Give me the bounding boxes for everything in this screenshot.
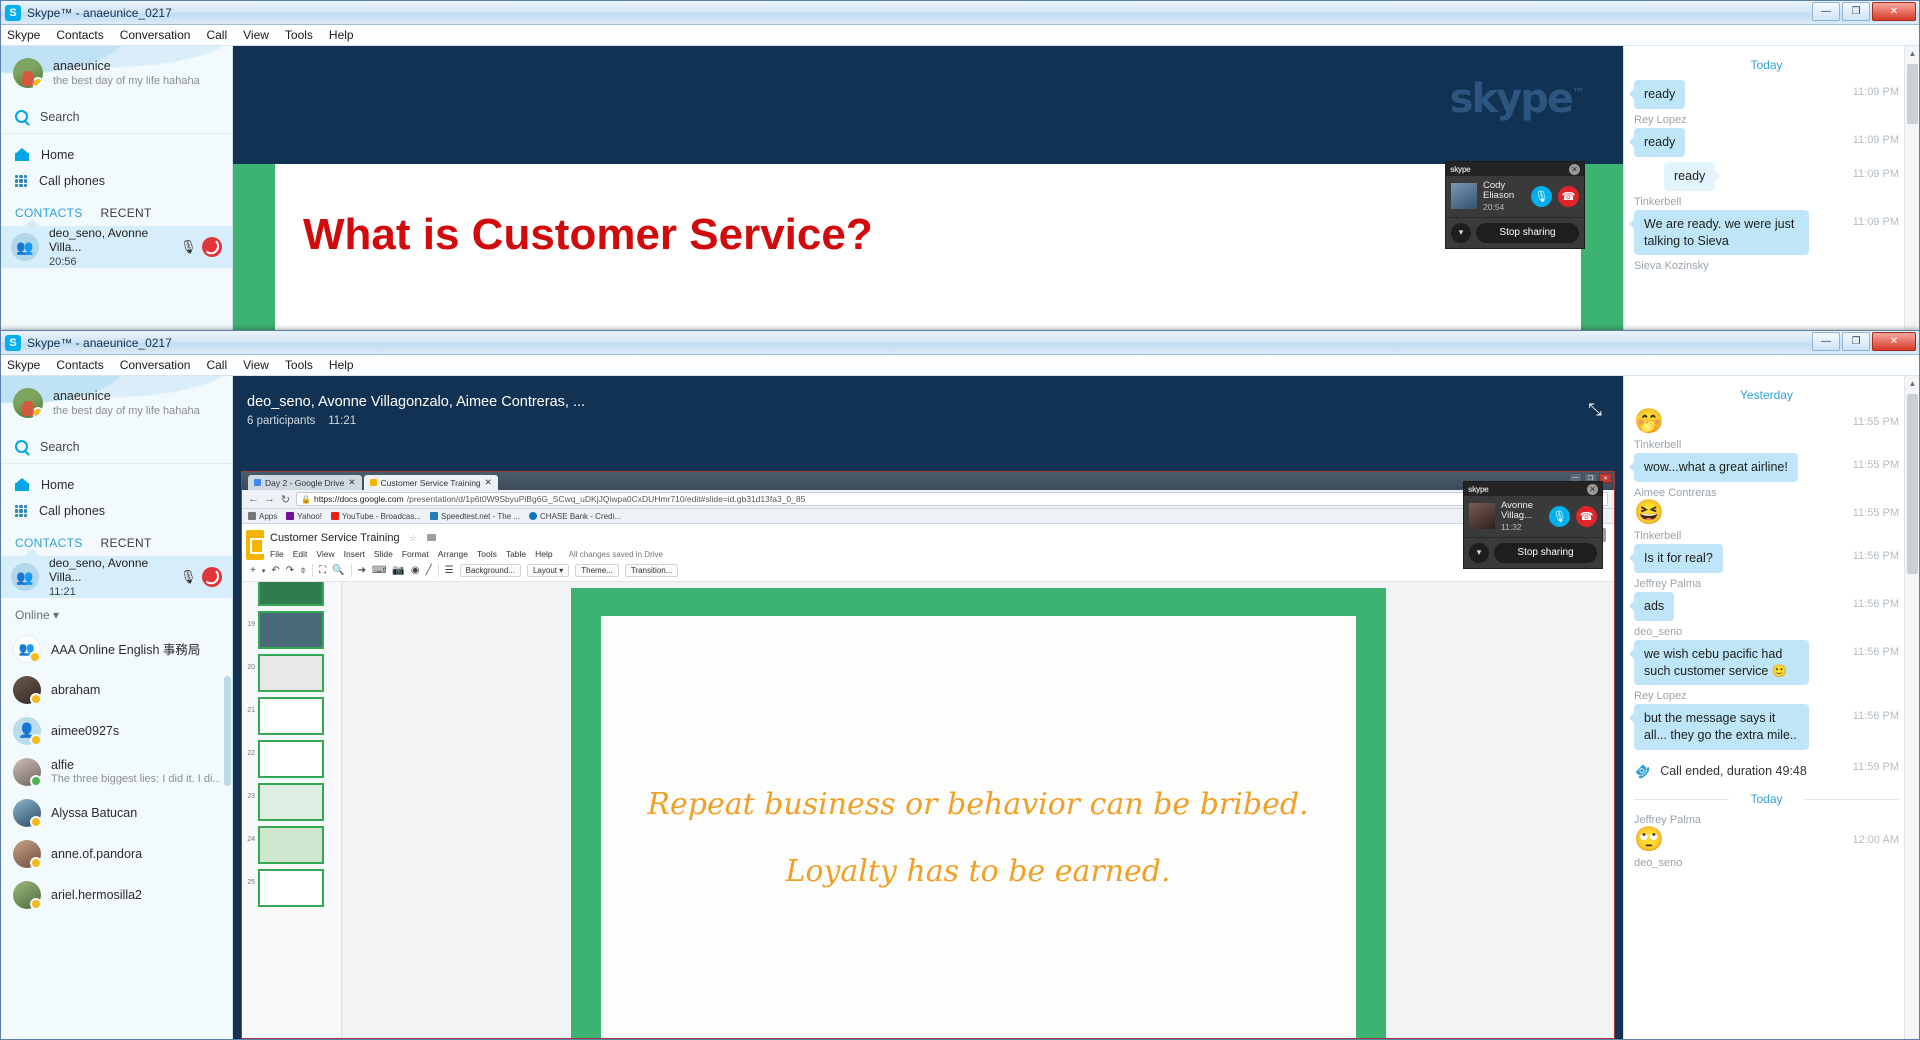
presence-badge-online	[30, 775, 42, 787]
stop-sharing-button[interactable]: Stop sharing	[1476, 223, 1579, 243]
call-widget-1[interactable]: skype ✕ Cody Eliason 20:54 🎙 ☎ ▾ Stop sh…	[1445, 161, 1585, 249]
slide-content: Repeat business or behavior can be bribe…	[601, 616, 1356, 1039]
message-time: 11:56 PM	[1845, 544, 1899, 562]
browser-tab-slides[interactable]: Customer Service Training ✕	[364, 475, 498, 490]
contact-name: AAA Online English 事務局	[51, 639, 200, 658]
bookmark-apps[interactable]: Apps	[248, 512, 277, 521]
yahoo-icon	[286, 512, 294, 520]
avatar	[13, 840, 41, 868]
online-filter-dropdown[interactable]: Online ▾	[1, 598, 232, 628]
menu-help[interactable]: Help	[329, 358, 354, 372]
message-emoji: 😆	[1634, 501, 1664, 525]
bookmarks-bar[interactable]: Apps Yahoo! YouTube - Broadcas... Speedt…	[242, 509, 1614, 524]
scrollbar-thumb[interactable]	[1907, 64, 1918, 124]
chat-scrollbar[interactable]: ▲	[1904, 46, 1919, 339]
window1-body: anaeunice the best day of my life hahaha…	[1, 46, 1919, 339]
menu-conversation[interactable]: Conversation	[120, 358, 191, 372]
end-call-icon[interactable]: ☎	[1558, 186, 1579, 207]
window1-window-buttons[interactable]: — ❐ ✕	[1812, 2, 1916, 21]
slides-menu-format[interactable]: Format	[402, 549, 429, 559]
message-time: 11:09 PM	[1845, 80, 1899, 98]
message-time: 11:09 PM	[1845, 162, 1899, 180]
undo-icon[interactable]: ↶	[271, 565, 279, 576]
back-icon[interactable]: ←	[248, 493, 259, 505]
plus-icon[interactable]: +	[250, 565, 256, 576]
presence-badge-away	[29, 651, 41, 663]
chevron-down-icon[interactable]: ▾	[262, 567, 266, 575]
filmstrip-item[interactable]	[242, 582, 341, 606]
sidebar-item-call-phones[interactable]: Call phones	[1, 498, 232, 524]
contact-list-item[interactable]: alfie The three biggest lies: I did it. …	[1, 751, 232, 792]
layout-button[interactable]: Layout ▾	[527, 564, 569, 577]
message-sender: Jeffrey Palma	[1634, 814, 1899, 826]
window1-chat-panel[interactable]: Today ready 11:09 PM Rey Lopez ready 11:…	[1623, 46, 1919, 339]
call-event-text: Call ended, duration 49:48	[1660, 764, 1807, 778]
slides-menu-table[interactable]: Table	[506, 549, 526, 559]
contact-name: abraham	[51, 683, 100, 697]
call-widget-actions[interactable]: ▾ Stop sharing	[1446, 218, 1584, 248]
profile-header[interactable]: anaeunice the best day of my life hahaha	[1, 46, 232, 100]
presence-badge-away	[30, 898, 42, 910]
menu-skype[interactable]: Skype	[7, 28, 40, 42]
slide-filmstrip[interactable]: 19 20 21 22	[242, 582, 342, 1039]
slides-logo-icon	[246, 530, 264, 560]
bookmark-chase[interactable]: CHASE Bank - Credi...	[529, 512, 621, 521]
profile-mood: the best day of my life hahaha	[53, 75, 200, 87]
end-call-icon[interactable]	[202, 567, 222, 587]
caller-avatar	[1469, 503, 1495, 529]
google-slides-app[interactable]: Customer Service Training ☆ File Edit Vi…	[242, 524, 1614, 1039]
scroll-up-icon[interactable]: ▲	[1905, 376, 1919, 391]
message-bubble: ready	[1664, 162, 1715, 191]
contact-list-item[interactable]: anne.of.pandora	[1, 833, 232, 874]
filmstrip-item[interactable]: 22	[242, 740, 341, 778]
message-sender: Tinkerbell	[1634, 530, 1899, 542]
paint-format-icon[interactable]: ⌽	[300, 565, 306, 576]
window2-menubar[interactable]: Skype Contacts Conversation Call View To…	[1, 355, 1919, 376]
toolbar-separator	[438, 564, 439, 577]
menu-skype[interactable]: Skype	[7, 358, 40, 372]
browser-tab-slides-label: Customer Service Training	[381, 478, 481, 488]
sidebar-scrollbar-thumb[interactable]	[224, 676, 231, 786]
theme-button[interactable]: Theme...	[575, 564, 619, 577]
close-icon[interactable]: ✕	[348, 477, 355, 488]
sidebar-item-call-phones[interactable]: Call phones	[1, 168, 232, 194]
slides-menu-arrange[interactable]: Arrange	[438, 549, 468, 559]
skype-window-2[interactable]: S Skype™ - anaeunice_0217 — ❐ ✕ Skype Co…	[0, 330, 1920, 1040]
sidebar-item-call-phones-label: Call phones	[39, 174, 105, 188]
slide-number: 24	[244, 826, 258, 843]
dialpad-icon	[15, 505, 27, 517]
conversation-list-item[interactable]: deo_seno, Avonne Villa... 20:56 🎙	[1, 226, 232, 268]
dialpad-icon	[15, 175, 27, 187]
maximize-button[interactable]: ❐	[1842, 332, 1870, 351]
contact-list-item[interactable]: ariel.hermosilla2	[1, 874, 232, 915]
menu-conversation[interactable]: Conversation	[120, 28, 191, 42]
slide-thumbnail[interactable]	[258, 697, 324, 735]
filmstrip-item[interactable]: 19	[242, 611, 341, 649]
chat-message: We are ready. we were just talking to Si…	[1634, 210, 1899, 256]
filmstrip-item[interactable]: 25	[242, 869, 341, 907]
textbox-icon[interactable]: ⌨	[372, 565, 386, 576]
slide-title-text: What is Customer Service?	[303, 210, 873, 260]
window2-title: Skype™ - anaeunice_0217	[27, 336, 172, 350]
group-avatar	[11, 233, 39, 261]
message-time: 11:09 PM	[1845, 210, 1899, 228]
participants-count: 6 participants	[247, 415, 315, 427]
message-sender: Tinkerbell	[1634, 439, 1899, 451]
slide-left-band	[233, 164, 275, 339]
window1-menubar[interactable]: Skype Contacts Conversation Call View To…	[1, 25, 1919, 46]
sidebar-nav[interactable]: Home Call phones	[1, 134, 232, 194]
message-sender: Rey Lopez	[1634, 690, 1899, 702]
maximize-button[interactable]: ❐	[1842, 2, 1870, 21]
contact-mood: The three biggest lies: I did it. I di..…	[51, 773, 220, 785]
profile-name: anaeunice	[53, 389, 200, 403]
close-button[interactable]: ✕	[1872, 332, 1916, 351]
browser-tabbar[interactable]: Day 2 - Google Drive ✕ Customer Service …	[242, 472, 1614, 490]
sidebar-item-home[interactable]: Home	[1, 472, 232, 498]
presence-badge-away	[30, 734, 42, 746]
window2-sidebar[interactable]: anaeunice the best day of my life hahaha…	[1, 376, 233, 1039]
share-time: 11:21	[328, 415, 356, 427]
message-sender: Rey Lopez	[1634, 114, 1899, 126]
slide-thumbnail[interactable]	[258, 654, 324, 692]
message-time: 11:55 PM	[1845, 410, 1899, 428]
zoom-icon[interactable]: 🔍	[332, 565, 344, 576]
contact-list-item[interactable]: Alyssa Batucan	[1, 792, 232, 833]
close-icon[interactable]: ✕	[485, 477, 492, 488]
slides-toolbar[interactable]: + ▾ ↶ ↷ ⌽ ⛶ 🔍 ➔ ⌨ 📷 ◉ ╱	[242, 560, 1614, 582]
chat-message: 🤭 11:55 PM	[1634, 410, 1899, 434]
menu-call[interactable]: Call	[206, 28, 227, 42]
contact-name: Alyssa Batucan	[51, 806, 137, 820]
caller-name: Cody Eliason	[1483, 181, 1525, 202]
message-sender: Jeffrey Palma	[1634, 578, 1899, 590]
group-avatar	[11, 563, 39, 591]
filmstrip-item[interactable]: 24	[242, 826, 341, 864]
slides-menu-file[interactable]: File	[270, 549, 284, 559]
browser-tab-drive[interactable]: Day 2 - Google Drive ✕	[248, 475, 362, 490]
search-input[interactable]: Search	[1, 100, 232, 134]
contact-list-item[interactable]: 👥 AAA Online English 事務局	[1, 628, 232, 669]
skype-app-icon: S	[5, 335, 21, 351]
contact-name: ariel.hermosilla2	[51, 888, 142, 902]
contact-list-item[interactable]: 👤 aimee0927s	[1, 710, 232, 751]
drive-icon	[254, 479, 261, 486]
conversation-name: deo_seno, Avonne Villa...	[49, 226, 180, 254]
message-bubble: we wish cebu pacific had such customer s…	[1634, 640, 1809, 686]
caller-name: Avonne Villag...	[1501, 501, 1543, 522]
avatar	[13, 676, 41, 704]
sidebar-item-home-label: Home	[41, 148, 74, 162]
save-status: All changes saved in Drive	[569, 550, 663, 559]
zoom-fit-icon[interactable]: ⛶	[319, 565, 326, 576]
contact-name: anne.of.pandora	[51, 847, 142, 861]
slides-menu-view[interactable]: View	[316, 549, 334, 559]
chat-message: but the message says it all... they go t…	[1634, 704, 1899, 750]
comment-icon[interactable]: ☰	[445, 565, 454, 576]
conversation-list-item[interactable]: deo_seno, Avonne Villa... 11:21 🎙	[1, 556, 232, 598]
message-time: 11:55 PM	[1845, 453, 1899, 471]
message-time: 11:09 PM	[1845, 128, 1899, 146]
slides-menu-edit[interactable]: Edit	[293, 549, 308, 559]
url-domain: https://docs.google.com	[314, 494, 404, 504]
slide-thumbnail[interactable]	[258, 740, 324, 778]
chat-call-event: ☎ Call ended, duration 49:48 11:59 PM	[1634, 755, 1899, 787]
search-input[interactable]: Search	[1, 430, 232, 464]
bookmark-youtube[interactable]: YouTube - Broadcas...	[331, 512, 421, 521]
sidebar-nav[interactable]: Home Call phones	[1, 464, 232, 524]
chat-message: 🙄 12:00 AM	[1634, 828, 1899, 852]
tab-contacts[interactable]: CONTACTS	[15, 536, 83, 550]
conversation-name: deo_seno, Avonne Villa...	[49, 556, 180, 584]
window2-chat-panel[interactable]: Yesterday 🤭 11:55 PM Tinkerbell wow...wh…	[1623, 376, 1919, 1039]
chat-message-outgoing: ready 11:09 PM	[1634, 162, 1899, 191]
end-call-icon: ☎	[1631, 760, 1654, 783]
caller-time: 20:54	[1483, 202, 1525, 212]
call-widget-titlebar: skype ✕	[1464, 482, 1602, 496]
avatar: 👤	[13, 717, 41, 745]
message-bubble: wow...what a great airline!	[1634, 453, 1798, 482]
chat-message: wow...what a great airline! 11:55 PM	[1634, 453, 1899, 482]
star-icon[interactable]: ☆	[409, 533, 417, 543]
bookmark-yahoo[interactable]: Yahoo!	[286, 512, 322, 521]
call-widget-caller: Avonne Villag... 11:32 🎙 ☎	[1464, 496, 1602, 538]
close-button[interactable]: ✕	[1872, 2, 1916, 21]
menu-call[interactable]: Call	[206, 358, 227, 372]
presence-badge-away	[30, 816, 42, 828]
profile-header[interactable]: anaeunice the best day of my life hahaha	[1, 376, 232, 430]
chat-message: we wish cebu pacific had such customer s…	[1634, 640, 1899, 686]
window2-window-buttons[interactable]: — ❐ ✕	[1812, 332, 1916, 351]
slide-number: 23	[244, 783, 258, 800]
menu-view[interactable]: View	[243, 358, 269, 372]
select-icon[interactable]: ➔	[358, 565, 366, 576]
toolbar-separator	[351, 564, 352, 577]
filmstrip-item[interactable]: 23	[242, 783, 341, 821]
menu-tools[interactable]: Tools	[285, 28, 313, 42]
message-emoji: 🤭	[1634, 410, 1664, 434]
contact-name: alfie	[51, 758, 220, 772]
slide-right-band	[1581, 164, 1623, 339]
window1-sidebar[interactable]: anaeunice the best day of my life hahaha…	[1, 46, 233, 339]
presentation-slide-1: What is Customer Service?	[233, 164, 1623, 339]
message-time: 11:56 PM	[1845, 704, 1899, 722]
slide-number: 25	[244, 869, 258, 886]
current-slide[interactable]: Repeat business or behavior can be bribe…	[571, 588, 1386, 1039]
message-sender: Tinkerbell	[1634, 196, 1899, 208]
skype-app-icon: S	[5, 5, 21, 21]
skype-logo-small: skype	[1468, 485, 1488, 494]
message-sender: deo_seno	[1634, 626, 1899, 638]
sidebar-item-home[interactable]: Home	[1, 142, 232, 168]
image-icon[interactable]: 📷	[392, 565, 404, 576]
message-time: 11:55 PM	[1845, 501, 1899, 519]
end-call-icon[interactable]	[202, 237, 222, 257]
toolbar-separator	[312, 564, 313, 577]
chat-message: ready 11:09 PM	[1634, 128, 1899, 157]
avatar	[13, 758, 41, 786]
search-icon	[15, 110, 28, 123]
microphone-icon[interactable]: 🎙	[180, 239, 194, 255]
online-filter-label: Online	[15, 608, 50, 622]
slides-workspace: 19 20 21 22	[242, 582, 1614, 1039]
chat-message: ready 11:09 PM	[1634, 80, 1899, 109]
line-icon[interactable]: ╱	[426, 565, 432, 576]
avatar	[13, 881, 41, 909]
shape-icon[interactable]: ◉	[411, 565, 420, 576]
message-bubble: but the message says it all... they go t…	[1634, 704, 1809, 750]
search-placeholder: Search	[40, 440, 80, 454]
share-header: deo_seno, Avonne Villagonzalo, Aimee Con…	[233, 376, 1623, 427]
close-icon[interactable]: ✕	[1569, 164, 1580, 175]
profile-name: anaeunice	[53, 59, 200, 73]
lock-icon: 🔒	[301, 495, 311, 504]
avatar: 👥	[13, 635, 41, 663]
folder-icon[interactable]	[427, 534, 436, 541]
speedtest-icon	[430, 512, 438, 520]
filmstrip-item[interactable]: 21	[242, 697, 341, 735]
address-bar[interactable]: 🔒 https://docs.google.com/presentation/d…	[296, 492, 1608, 506]
call-widget-caller: Cody Eliason 20:54 🎙 ☎	[1446, 176, 1584, 218]
slide-number: 19	[244, 611, 258, 628]
avatar[interactable]	[13, 388, 43, 418]
chat-message: 😆 11:55 PM	[1634, 501, 1899, 525]
call-widget-actions[interactable]: ▾ Stop sharing	[1464, 538, 1602, 568]
conversation-time: 20:56	[49, 256, 180, 268]
shared-screen-1: What is Customer Service?	[233, 164, 1623, 339]
message-bubble: Is it for real?	[1634, 544, 1723, 573]
day-separator: Yesterday	[1634, 388, 1899, 402]
slide-thumbnail[interactable]	[258, 582, 324, 606]
slides-icon	[370, 479, 377, 486]
sidebar-item-call-phones-label: Call phones	[39, 504, 105, 518]
shared-browser-window[interactable]: Day 2 - Google Drive ✕ Customer Service …	[241, 471, 1615, 1039]
avatar[interactable]	[13, 58, 43, 88]
call-widget-titlebar: skype ✕	[1446, 162, 1584, 176]
slide-thumbnail[interactable]	[258, 783, 324, 821]
slide-thumbnail[interactable]	[258, 611, 324, 649]
message-sender: Aimee Contreras	[1634, 487, 1899, 499]
slides-menu-help[interactable]: Help	[535, 549, 552, 559]
presence-badge-away	[30, 857, 42, 869]
chat-message: Is it for real? 11:56 PM	[1634, 544, 1899, 573]
presence-badge-away	[30, 693, 42, 705]
microphone-icon[interactable]: 🎙	[1531, 186, 1552, 207]
slides-menu-tools[interactable]: Tools	[477, 549, 497, 559]
tab-recent[interactable]: RECENT	[101, 206, 152, 220]
slides-header: Customer Service Training ☆ File Edit Vi…	[242, 524, 1614, 560]
window2-body: anaeunice the best day of my life hahaha…	[1, 376, 1919, 1039]
scroll-up-icon[interactable]: ▲	[1905, 46, 1919, 61]
menu-view[interactable]: View	[243, 28, 269, 42]
browser-tab-drive-label: Day 2 - Google Drive	[265, 478, 344, 488]
call-widget-2[interactable]: skype ✕ Avonne Villag... 11:32 🎙 ☎ ▾ Sto…	[1463, 481, 1603, 569]
window2-titlebar[interactable]: S Skype™ - anaeunice_0217 — ❐ ✕	[1, 331, 1919, 355]
stop-sharing-button[interactable]: Stop sharing	[1494, 543, 1597, 563]
menu-contacts[interactable]: Contacts	[56, 28, 103, 42]
slide-line-2: Loyalty has to be earned.	[785, 854, 1170, 889]
transition-button[interactable]: Transition...	[625, 564, 679, 577]
tab-recent[interactable]: RECENT	[101, 536, 152, 550]
window1-title: Skype™ - anaeunice_0217	[27, 6, 172, 20]
minimize-button[interactable]: —	[1812, 332, 1840, 351]
menu-contacts[interactable]: Contacts	[56, 358, 103, 372]
message-time: 11:56 PM	[1845, 640, 1899, 658]
chat-scrollbar[interactable]: ▲	[1904, 376, 1919, 1039]
skype-window-1[interactable]: S Skype™ - anaeunice_0217 — ❐ ✕ Skype Co…	[0, 0, 1920, 340]
home-icon	[15, 149, 29, 161]
menu-tools[interactable]: Tools	[285, 358, 313, 372]
slides-menubar[interactable]: File Edit View Insert Slide Format Arran…	[270, 549, 663, 559]
message-bubble: ready	[1634, 80, 1685, 109]
chevron-down-icon[interactable]: ▾	[1469, 543, 1489, 563]
message-sender: deo_seno	[1634, 857, 1899, 869]
browser-urlbar[interactable]: ← → ↻ 🔒 https://docs.google.com/presenta…	[242, 490, 1614, 509]
window1-titlebar[interactable]: S Skype™ - anaeunice_0217 — ❐ ✕	[1, 1, 1919, 25]
window1-share-area: skype™ What is Customer Service? skype ✕	[233, 46, 1623, 339]
day-separator: Today	[1634, 58, 1899, 72]
slide-number: 20	[244, 654, 258, 671]
slide-canvas[interactable]: Repeat business or behavior can be bribe…	[342, 582, 1614, 1039]
chat-message: ads 11:56 PM	[1634, 592, 1899, 621]
slide-thumbnail[interactable]	[258, 826, 324, 864]
conversation-time: 11:21	[49, 586, 180, 598]
url-path: /presentation/d/1p6t0W9SbyuPiBg6G_SCwq_u…	[407, 494, 806, 504]
scrollbar-thumb[interactable]	[1907, 394, 1918, 574]
bookmark-speedtest[interactable]: Speedtest.net - The ...	[430, 512, 520, 521]
presence-badge-away	[32, 407, 43, 418]
message-time: 12:00 AM	[1845, 828, 1899, 846]
window2-share-area: deo_seno, Avonne Villagonzalo, Aimee Con…	[233, 376, 1623, 1039]
slides-menu-slide[interactable]: Slide	[374, 549, 393, 559]
message-emoji: 🙄	[1634, 828, 1664, 852]
contact-name: aimee0927s	[51, 724, 119, 738]
message-time: 11:59 PM	[1845, 755, 1899, 773]
caller-avatar	[1451, 183, 1477, 209]
minimize-button[interactable]: —	[1812, 2, 1840, 21]
document-title[interactable]: Customer Service Training	[270, 532, 400, 544]
avatar	[13, 799, 41, 827]
presence-badge-away	[32, 77, 43, 88]
contact-list-item[interactable]: abraham	[1, 669, 232, 710]
slides-menu-insert[interactable]: Insert	[344, 549, 365, 559]
forward-icon[interactable]: →	[264, 493, 275, 505]
close-icon[interactable]: ✕	[1587, 484, 1598, 495]
chevron-down-icon[interactable]: ▾	[53, 608, 59, 622]
slide-thumbnail[interactable]	[258, 869, 324, 907]
reload-icon[interactable]: ↻	[280, 493, 291, 506]
redo-icon[interactable]: ↷	[286, 565, 294, 576]
microphone-icon[interactable]: 🎙	[180, 569, 194, 585]
message-bubble: ads	[1634, 592, 1674, 621]
expand-icon[interactable]: ⤡	[1585, 400, 1605, 420]
slide-line-1: Repeat business or behavior can be bribe…	[647, 787, 1308, 822]
background-button[interactable]: Background...	[460, 564, 521, 577]
menu-help[interactable]: Help	[329, 28, 354, 42]
filmstrip-item[interactable]: 20	[242, 654, 341, 692]
microphone-icon[interactable]: 🎙	[1549, 506, 1570, 527]
search-placeholder: Search	[40, 110, 80, 124]
profile-mood: the best day of my life hahaha	[53, 405, 200, 417]
chevron-down-icon[interactable]: ▾	[1451, 223, 1471, 243]
day-separator: Today	[1634, 792, 1899, 806]
chase-icon	[529, 512, 537, 520]
share-title: deo_seno, Avonne Villagonzalo, Aimee Con…	[247, 394, 1623, 410]
tab-contacts[interactable]: CONTACTS	[15, 206, 83, 220]
end-call-icon[interactable]: ☎	[1576, 506, 1597, 527]
